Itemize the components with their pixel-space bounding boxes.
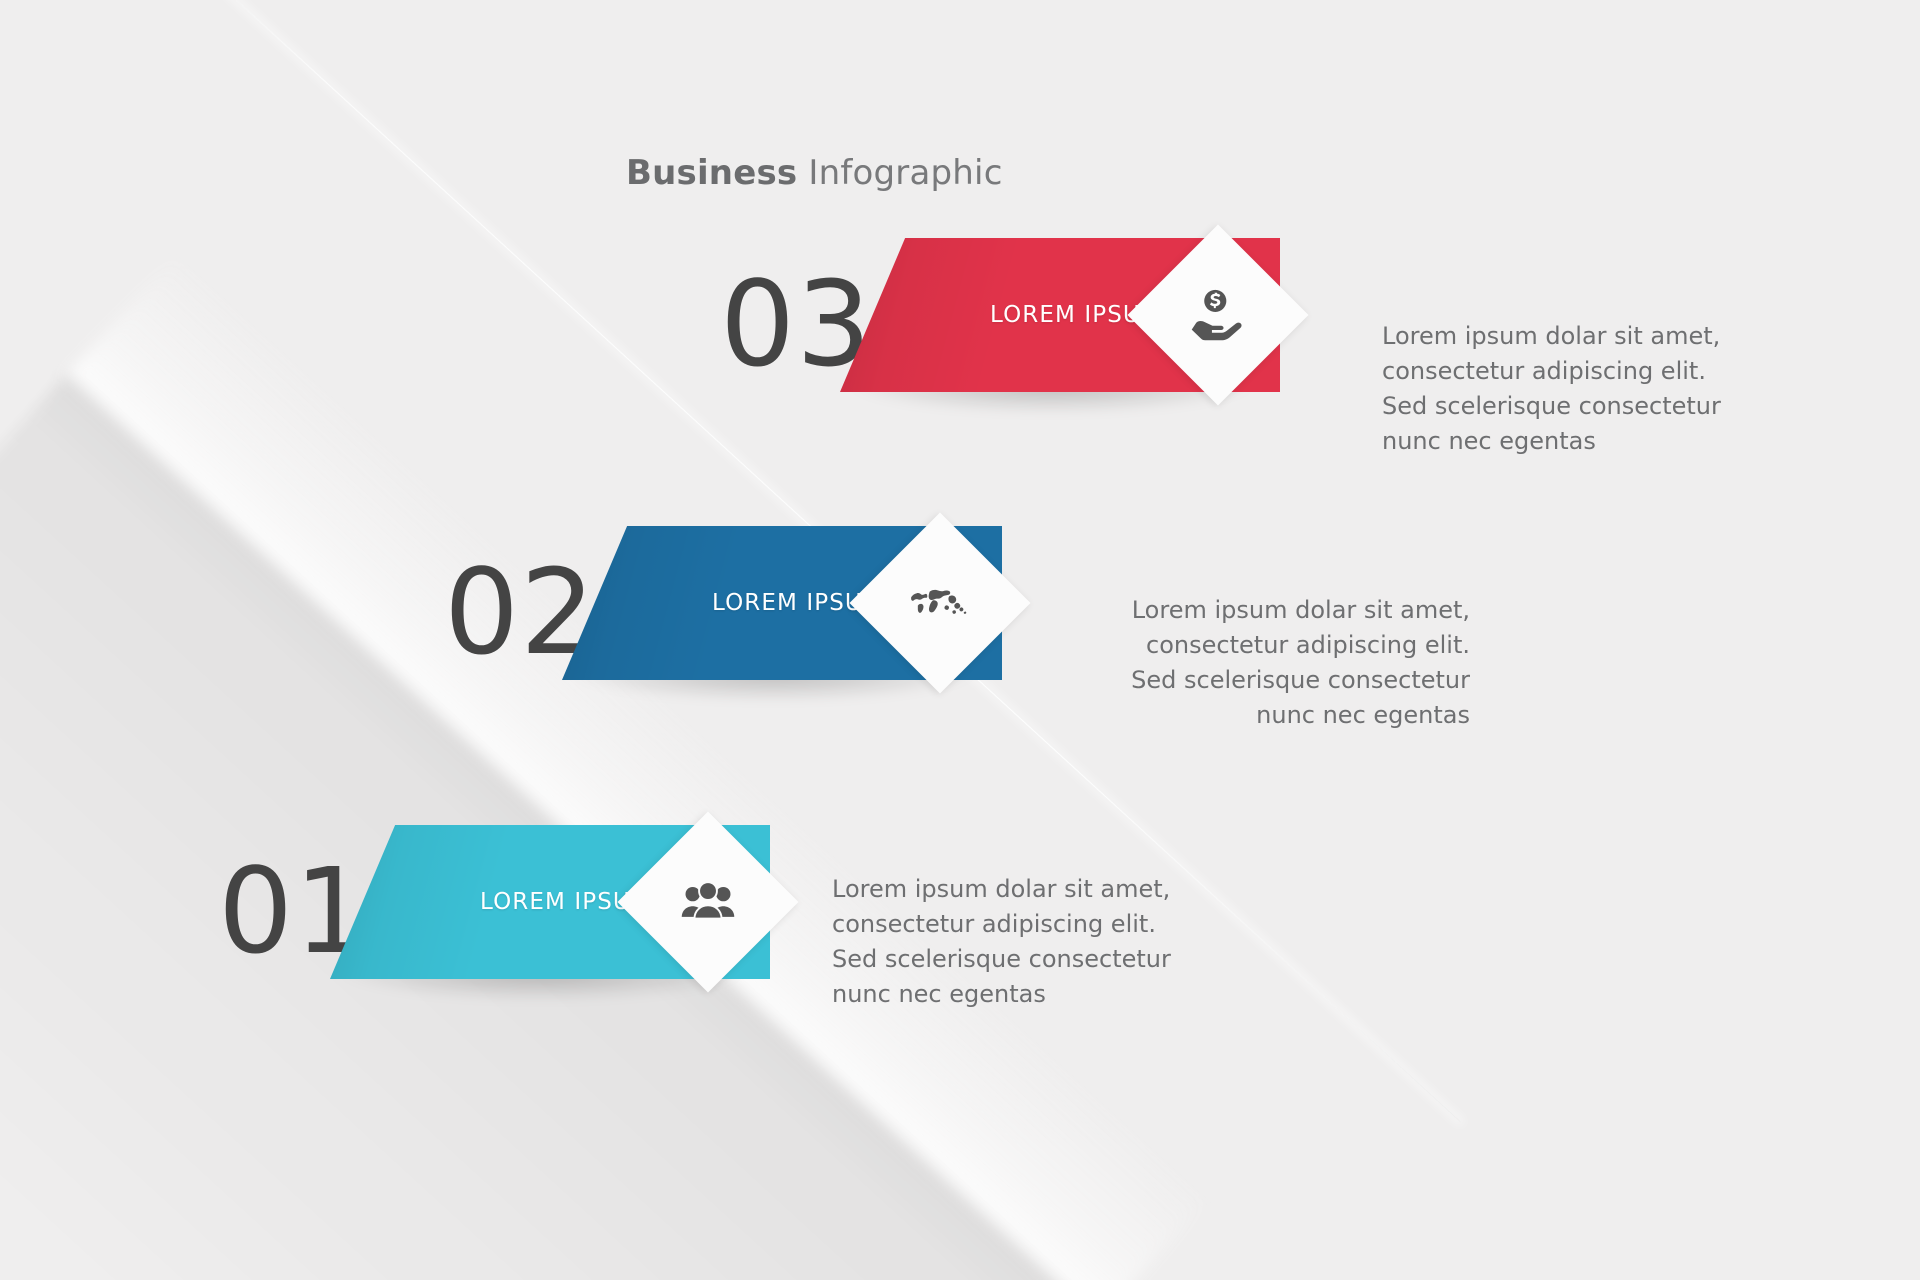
step-description-01: Lorem ipsum dolar sit amet, consectetur …	[832, 872, 1212, 1012]
step-row-01: 01 LOREM IPSUM Lorem	[0, 0, 1920, 1280]
infographic-canvas: Business Infographic 03 LOREM IPSUM Lore…	[0, 0, 1920, 1280]
group-of-people-icon	[677, 871, 739, 933]
